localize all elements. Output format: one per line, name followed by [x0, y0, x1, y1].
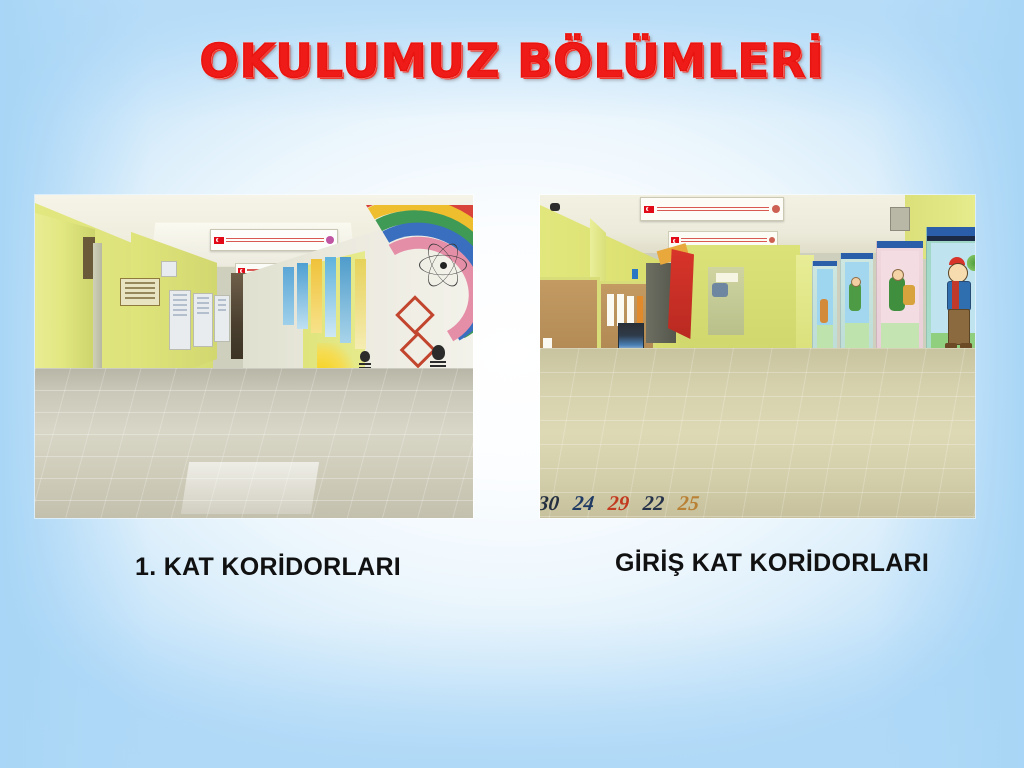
atom-icon [419, 241, 467, 289]
banner-text-lines [657, 205, 769, 213]
turkish-flag-icon [238, 268, 245, 273]
painted-character-head [851, 277, 861, 287]
floor-number: 22 [642, 491, 666, 516]
banner-text-lines [681, 236, 767, 244]
caption-entrance-floor: GİRİŞ KAT KORİDORLARI [615, 549, 929, 578]
floor-number: 24 [572, 491, 596, 516]
corridor-scene-2: 30 24 29 22 25 [540, 195, 975, 518]
painted-character-body [947, 281, 971, 311]
painted-object [903, 285, 915, 305]
hanging-banner [640, 197, 784, 221]
floor-number: 25 [677, 491, 701, 516]
painted-plant [967, 255, 975, 271]
caption-first-floor: 1. KAT KORİDORLARI [135, 553, 401, 582]
floor-reflection [181, 462, 319, 514]
corridor-scene-1 [35, 195, 473, 518]
floor-painted-numbers: 30 24 29 22 25 [540, 491, 779, 516]
painted-character [849, 283, 861, 311]
painted-character-head [892, 269, 904, 281]
wall-sticker [632, 269, 638, 279]
painted-character-head [948, 263, 968, 283]
painted-character-trousers [948, 309, 970, 345]
seal-icon [772, 205, 780, 213]
turkish-flag-icon [214, 237, 224, 244]
far-window-light [716, 273, 738, 282]
painted-character [820, 299, 828, 323]
corridor-floor: 30 24 29 22 25 [540, 348, 975, 518]
poster-small [161, 261, 177, 277]
wall-plaque [120, 278, 160, 306]
far-wall-object [712, 283, 728, 297]
turkish-flag-icon [644, 206, 654, 213]
poster [193, 293, 213, 347]
turkish-flag-icon [671, 237, 679, 243]
photo-entrance-floor-corridor: 30 24 29 22 25 [540, 195, 975, 518]
painted-character-vest [952, 281, 959, 309]
background-edge-bottom [0, 618, 1024, 768]
poster [169, 290, 191, 350]
wall-speaker-icon [890, 207, 910, 231]
poster [214, 295, 230, 342]
photo-first-floor-corridor [35, 195, 473, 518]
corridor-floor [35, 368, 473, 518]
seal-icon [769, 237, 775, 243]
turkish-flag-hanging [668, 249, 694, 339]
banner-text-lines [226, 236, 324, 244]
floor-number: 30 [540, 491, 560, 516]
slide-title: OKULUMUZ BÖLÜMLERİ [0, 34, 1024, 88]
floor-number: 29 [607, 491, 631, 516]
security-camera-icon [550, 203, 560, 211]
